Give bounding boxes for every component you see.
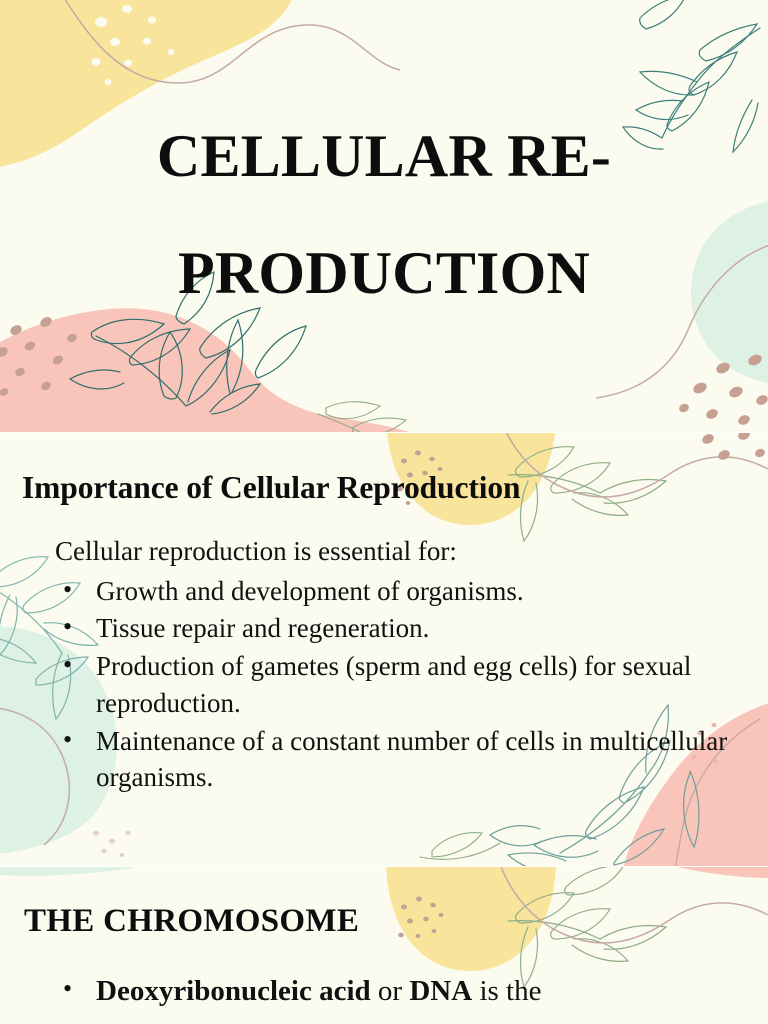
- importance-body: Cellular reproduction is essential for: …: [55, 533, 755, 797]
- term-dna-full: Deoxyribonucleic acid: [96, 975, 371, 1007]
- lead-text: Cellular reproduction is essential for:: [55, 533, 755, 570]
- yellow-halfcircle-chromo: [386, 867, 556, 971]
- page-title-line-2: PRODUCTION: [0, 215, 768, 332]
- brown-dot-cluster-far-right: [701, 433, 767, 462]
- olive-sprig-bottom-center: [420, 833, 500, 860]
- list-item: Production of gametes (sperm and egg cel…: [55, 648, 755, 721]
- pink-sliver-chromo: [660, 867, 768, 878]
- list-item: Deoxyribonucleic acid or DNA is the: [57, 972, 757, 1011]
- mauve-curve-top-right: [498, 433, 768, 497]
- connector-or: or: [371, 975, 410, 1007]
- leaves-chromo-top-right: [508, 867, 666, 987]
- trailing-text: is the: [472, 975, 541, 1007]
- chromosome-body: Deoxyribonucleic acid or DNA is the: [57, 972, 757, 1012]
- chromosome-slide: THE CHROMOSOME Deoxyribonucleic acid or …: [0, 867, 768, 1024]
- faint-dot-cluster-left: [93, 831, 131, 857]
- mint-sliver-chromo: [0, 867, 180, 876]
- slide-deck-page: CELLULAR RE- PRODUCTION: [0, 0, 768, 1024]
- page-title-line-1: CELLULAR RE-: [0, 98, 768, 215]
- brown-dot-cluster-chromo: [398, 897, 443, 939]
- olive-leaves-top: [508, 447, 666, 541]
- olive-sprig-bottom: [318, 402, 406, 432]
- list-item: Growth and development of organisms.: [55, 573, 755, 610]
- importance-slide: Importance of Cellular Reproduction Cell…: [0, 433, 768, 866]
- white-dot-cluster: [92, 5, 175, 85]
- term-dna-abbr: DNA: [409, 975, 472, 1007]
- mauve-curve-top: [55, 0, 400, 83]
- mauve-curve-chromo: [498, 867, 768, 943]
- list-item: Maintenance of a constant number of cell…: [55, 723, 755, 796]
- page-title: CELLULAR RE- PRODUCTION: [0, 98, 768, 332]
- importance-bullet-list: Growth and development of organisms. Tis…: [55, 573, 755, 796]
- title-slide: CELLULAR RE- PRODUCTION: [0, 0, 768, 432]
- section-heading-importance: Importance of Cellular Reproduction: [22, 470, 520, 506]
- brown-dot-cluster-right: [678, 353, 768, 427]
- section-heading-chromosome: THE CHROMOSOME: [24, 903, 359, 940]
- chromosome-bullet-list: Deoxyribonucleic acid or DNA is the: [57, 972, 757, 1011]
- list-item: Tissue repair and regeneration.: [55, 610, 755, 647]
